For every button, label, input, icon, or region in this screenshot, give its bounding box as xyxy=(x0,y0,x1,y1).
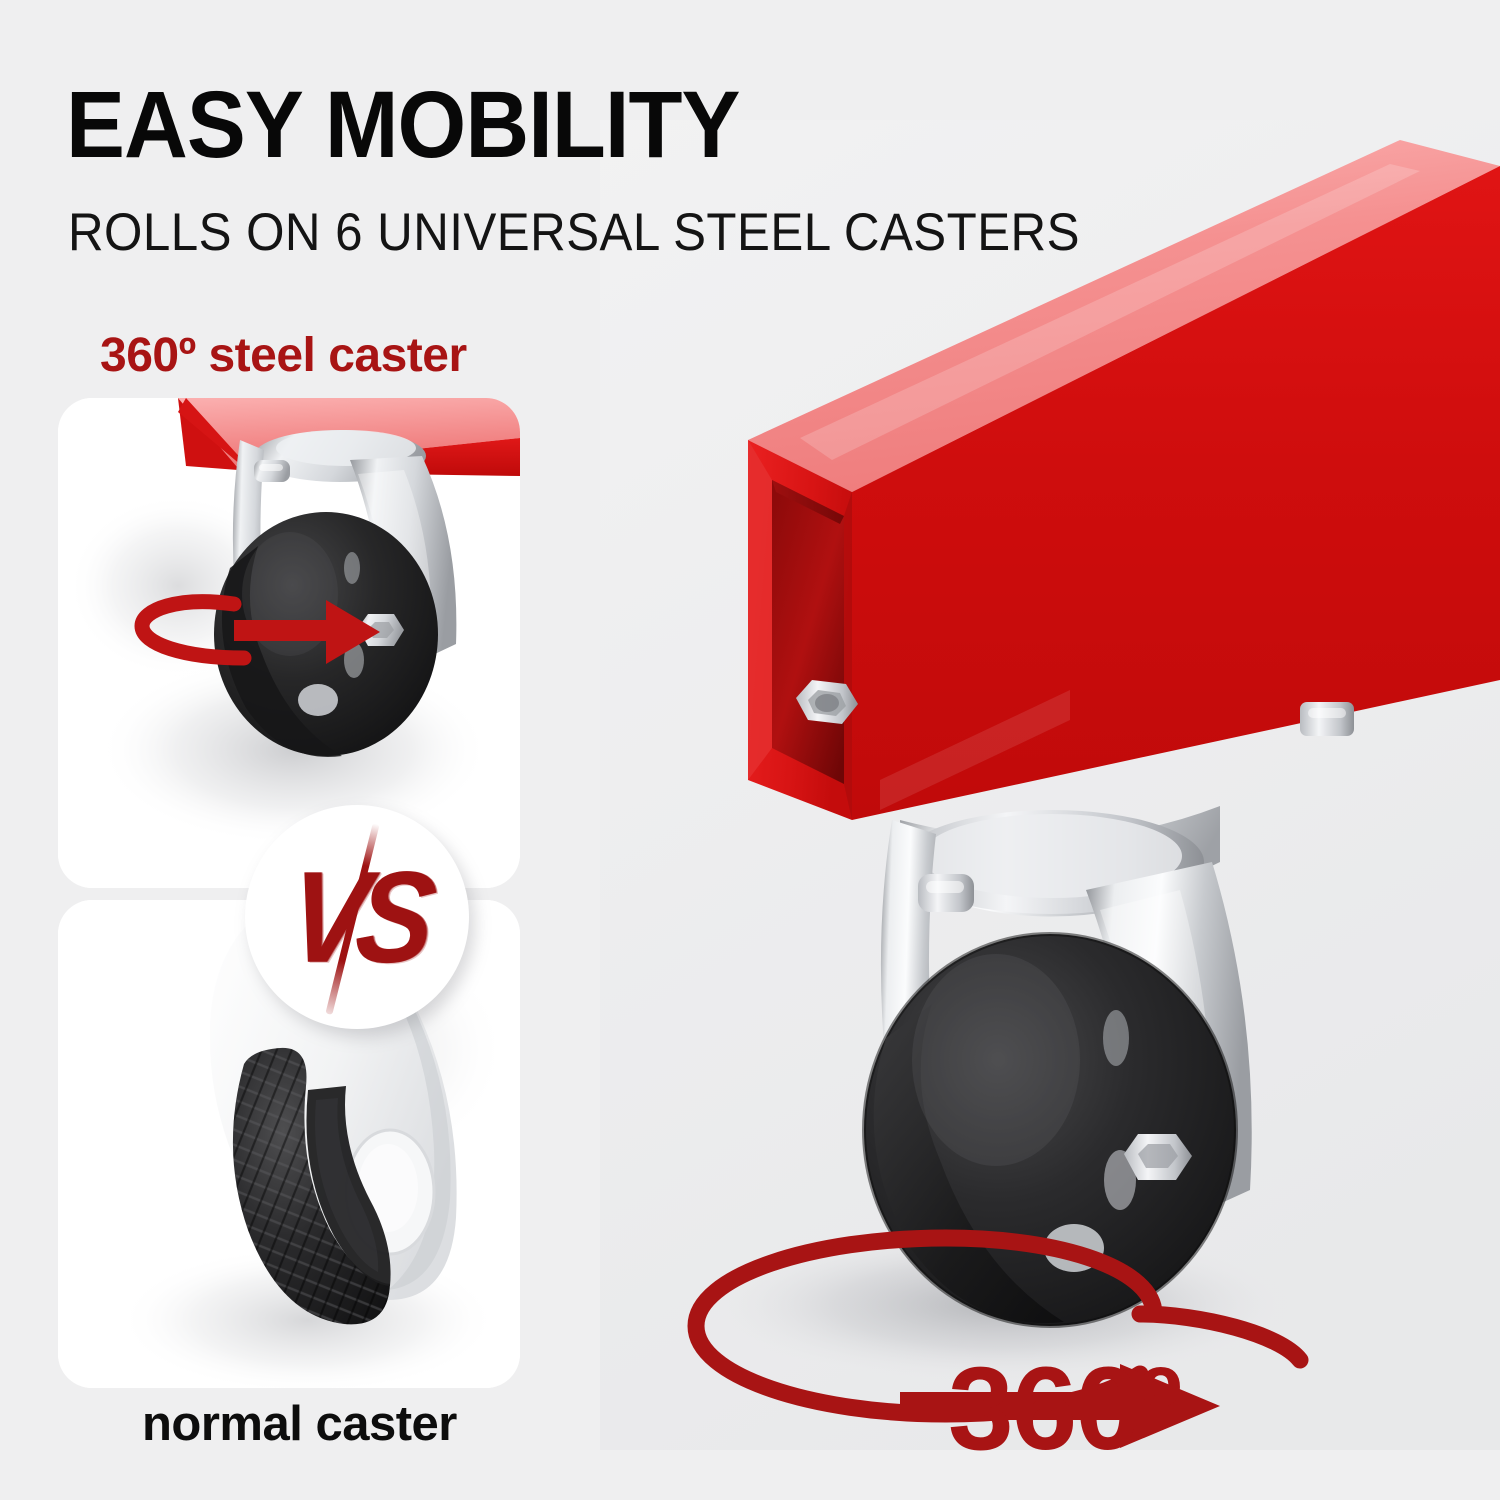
vs-badge: VS xyxy=(245,805,469,1029)
steel-caster-inset-illustration xyxy=(58,398,520,888)
page-title: EASY MOBILITY xyxy=(66,78,740,173)
vs-label: VS xyxy=(283,852,431,982)
bolt-stub-icon xyxy=(1300,702,1354,736)
steel-caster-card xyxy=(58,398,520,888)
normal-caster-label: normal caster xyxy=(142,1400,457,1449)
hero-product-photo xyxy=(600,120,1500,1450)
inset-swivel-post-icon xyxy=(254,460,290,482)
steel-caster-label: 360º steel caster xyxy=(100,332,467,380)
product-feature-graphic: EASY MOBILITY ROLLS ON 6 UNIVERSAL STEEL… xyxy=(0,0,1500,1500)
rotation-callout-360: 360º xyxy=(948,1350,1180,1468)
swivel-post-icon xyxy=(918,874,974,912)
page-subtitle: ROLLS ON 6 UNIVERSAL STEEL CASTERS xyxy=(68,206,1080,259)
hero-illustration xyxy=(600,120,1500,1450)
